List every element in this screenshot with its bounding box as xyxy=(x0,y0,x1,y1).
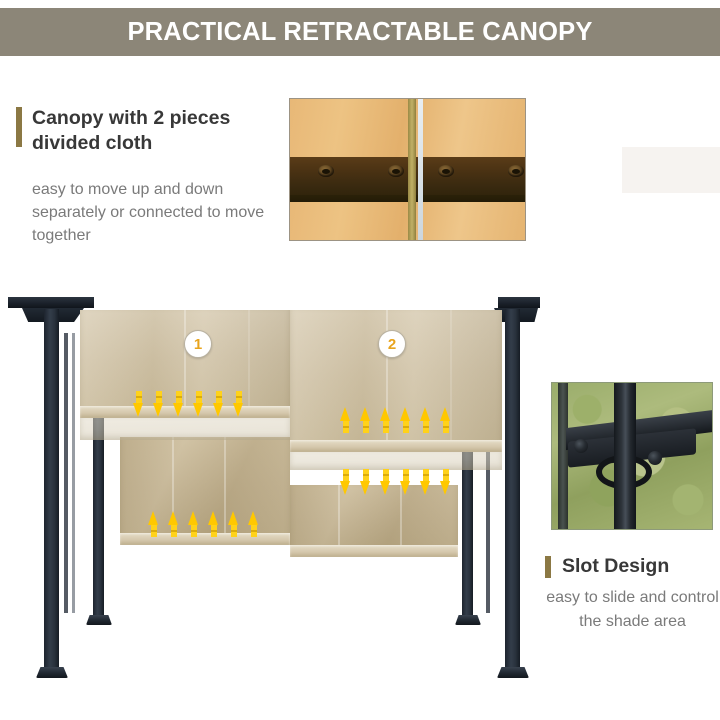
arrow-down-icon xyxy=(133,391,144,417)
arrow-up-icon xyxy=(360,407,371,433)
arrow-up-icon xyxy=(400,407,411,433)
joint-cloth-gap xyxy=(418,99,423,240)
arrow-down-icon xyxy=(233,391,244,417)
arrow-down-icon xyxy=(193,391,204,417)
arrow-up-icon xyxy=(340,407,351,433)
arrow-down-icon xyxy=(420,469,431,495)
arrow-up-icon xyxy=(420,407,431,433)
arrow-down-icon xyxy=(360,469,371,495)
bolt-icon xyxy=(574,439,588,453)
arrow-group-panel-2-upper xyxy=(340,407,451,433)
post-foot-rear-left xyxy=(86,615,112,625)
badge-panel-1: 1 xyxy=(184,330,212,358)
badge-panel-2: 2 xyxy=(378,330,406,358)
arrow-up-icon xyxy=(248,511,259,537)
post-brace-left-inner xyxy=(72,333,75,613)
joint-vertical-post xyxy=(408,99,416,240)
decorative-panel xyxy=(622,147,720,193)
top-beam-left xyxy=(8,297,94,308)
arrow-up-icon xyxy=(228,511,239,537)
bolt-icon xyxy=(648,451,662,465)
canopy-panel-2-lower xyxy=(290,485,458,557)
post-brace-left xyxy=(64,333,68,613)
grommet-icon xyxy=(318,165,334,177)
slot-ring-photo xyxy=(551,382,713,530)
post-front-right xyxy=(505,309,520,671)
feature-body-canopy-divided-cloth: easy to move up and down separately or c… xyxy=(32,178,282,247)
post-foot-rear-right xyxy=(455,615,481,625)
arrow-down-icon xyxy=(400,469,411,495)
canopy-joint-photo xyxy=(289,98,526,241)
arrow-down-icon xyxy=(153,391,164,417)
canopy-panel-2-skirt xyxy=(290,452,502,470)
post-foot-front-left xyxy=(36,667,68,678)
accent-bar-slot-design xyxy=(545,556,551,578)
slot-background-post xyxy=(558,383,568,530)
arrow-group-panel-1-lower xyxy=(148,511,259,537)
canopy-panel-1-skirt xyxy=(80,418,290,440)
grommet-icon xyxy=(388,165,404,177)
feature-heading-slot-design: Slot Design xyxy=(562,554,712,579)
feature-body-slot-design: easy to slide and control the shade area xyxy=(545,586,720,634)
arrow-up-icon xyxy=(208,511,219,537)
page-title: PRACTICAL RETRACTABLE CANOPY xyxy=(127,18,592,47)
grommet-icon xyxy=(438,165,454,177)
arrow-down-icon xyxy=(173,391,184,417)
arrow-down-icon xyxy=(380,469,391,495)
feature-heading-canopy-divided-cloth: Canopy with 2 pieces divided cloth xyxy=(32,106,272,156)
arrow-up-icon xyxy=(148,511,159,537)
arrow-up-icon xyxy=(188,511,199,537)
infographic-canvas: PRACTICAL RETRACTABLE CANOPY Canopy with… xyxy=(0,0,720,720)
arrow-group-panel-2-lower xyxy=(340,469,451,495)
top-beam-right xyxy=(498,297,540,308)
arrow-up-icon xyxy=(168,511,179,537)
slot-main-post xyxy=(614,383,636,530)
arrow-up-icon xyxy=(440,407,451,433)
arrow-group-panel-1-upper xyxy=(133,391,244,417)
arrow-down-icon xyxy=(340,469,351,495)
post-foot-front-right xyxy=(497,667,529,678)
arrow-down-icon xyxy=(440,469,451,495)
arrow-down-icon xyxy=(213,391,224,417)
arrow-up-icon xyxy=(380,407,391,433)
pergola-product-image: 1 2 xyxy=(0,285,540,685)
grommet-icon xyxy=(508,165,524,177)
header-banner: PRACTICAL RETRACTABLE CANOPY xyxy=(0,8,720,56)
post-front-left xyxy=(44,309,59,671)
accent-bar-canopy-divided-cloth xyxy=(16,107,22,147)
